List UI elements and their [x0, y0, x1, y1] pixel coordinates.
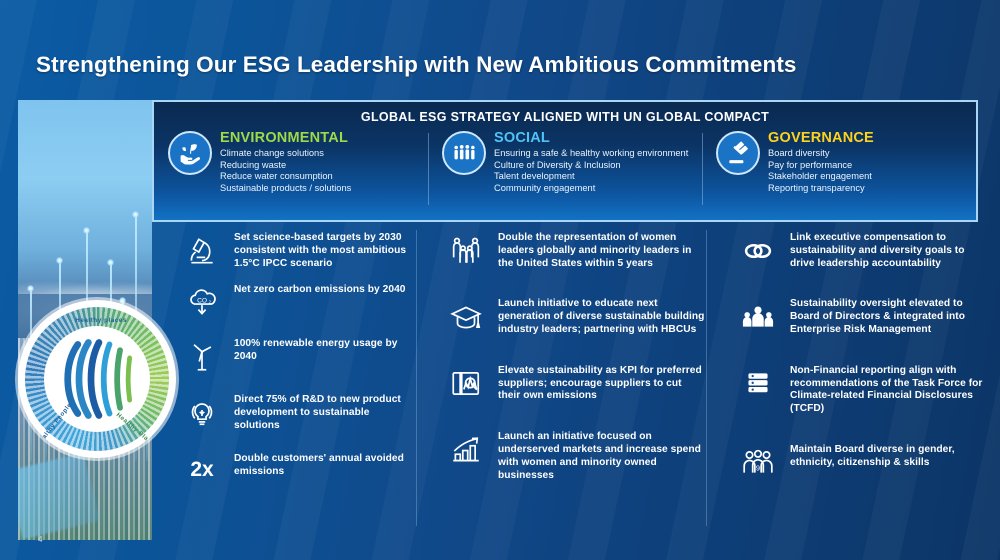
document-review-icon — [444, 365, 488, 401]
commitment-text: Launch an initiative focused on underser… — [498, 431, 706, 482]
pillar-name: SOCIAL — [494, 130, 696, 146]
pillar-governance: GOVERNANCE Board diversity Pay for perfo… — [702, 129, 976, 215]
commitment-text: Launch initiative to educate next genera… — [498, 298, 706, 336]
commitment-item: CO 2 Net zero carbon emissions by 2040 — [180, 284, 416, 320]
lightbulb-icon — [180, 394, 224, 430]
pillar-row: ENVIRONMENTAL Climate change solutions R… — [154, 129, 976, 215]
commitment-text: Direct 75% of R&D to new product develop… — [234, 394, 416, 432]
pillar-point: Stakeholder engagement — [768, 171, 970, 183]
gavel-icon — [716, 131, 760, 175]
commitment-text: Double the representation of women leade… — [498, 232, 706, 270]
commitment-item: Sustainability oversight elevated to Boa… — [736, 298, 990, 336]
esg-slide: Strengthening Our ESG Leadership with Ne… — [0, 0, 1000, 560]
svg-text:9: 9 — [756, 463, 760, 472]
pillar-points: Climate change solutions Reducing waste … — [220, 148, 422, 194]
growth-chart-icon — [444, 431, 488, 467]
pillar-point: Ensuring a safe & healthy working enviro… — [494, 148, 696, 160]
commitment-item: Set science-based targets by 2030 consis… — [180, 232, 416, 270]
co2-cloud-icon: CO 2 — [180, 284, 224, 320]
commitment-text: Sustainability oversight elevated to Boa… — [790, 298, 990, 336]
pillar-environmental: ENVIRONMENTAL Climate change solutions R… — [154, 129, 428, 215]
pillar-points: Ensuring a safe & healthy working enviro… — [494, 148, 696, 194]
pillar-name: ENVIRONMENTAL — [220, 130, 422, 146]
svg-text:CO: CO — [197, 298, 207, 305]
commitment-item: 100% renewable energy usage by 2040 — [180, 338, 416, 374]
commitments-environmental: Set science-based targets by 2030 consis… — [152, 228, 416, 530]
chain-link-icon — [736, 232, 780, 268]
board-members-icon — [736, 298, 780, 334]
pillar-point: Climate change solutions — [220, 148, 422, 160]
family-group-icon — [444, 232, 488, 268]
pillar-point: Reduce water consumption — [220, 171, 422, 183]
commitment-item: Non-Financial reporting align with recom… — [736, 365, 990, 416]
commitments-governance: Link executive compensation to sustainab… — [706, 228, 990, 530]
page-number: 4 — [38, 535, 42, 544]
commitment-text: Double customers' annual avoided emissio… — [234, 453, 416, 479]
pillar-point: Sustainable products / solutions — [220, 183, 422, 195]
commitment-item: 2x Double customers' annual avoided emis… — [180, 453, 416, 480]
commitments-area: Set science-based targets by 2030 consis… — [152, 228, 990, 530]
wind-turbine-icon — [180, 338, 224, 374]
pillar-point: Culture of Diversity & Inclusion — [494, 160, 696, 172]
commitment-text: Net zero carbon emissions by 2040 — [234, 284, 416, 297]
commitment-text: Set science-based targets by 2030 consis… — [234, 232, 416, 270]
commitment-text: Non-Financial reporting align with recom… — [790, 365, 990, 416]
pillar-point: Reporting transparency — [768, 183, 970, 195]
pillar-name: GOVERNANCE — [768, 130, 970, 146]
pillar-points: Board diversity Pay for performance Stak… — [768, 148, 970, 194]
commitment-item: 9 Maintain Board diverse in gender, ethn… — [736, 444, 990, 480]
pillar-point: Community engagement — [494, 183, 696, 195]
stacked-books-icon — [736, 365, 780, 401]
pillar-point: Board diversity — [768, 148, 970, 160]
commitment-item: Launch an initiative focused on underser… — [444, 431, 706, 482]
two-x-label: 2x — [190, 455, 213, 480]
pillar-point: Reducing waste — [220, 160, 422, 172]
commitment-item: Launch initiative to educate next genera… — [444, 298, 706, 336]
commitment-item: Double the representation of women leade… — [444, 232, 706, 270]
commitments-social: Double the representation of women leade… — [416, 228, 706, 530]
commitment-item: Direct 75% of R&D to new product develop… — [180, 394, 416, 432]
badge-word-places: Healthy places — [75, 317, 127, 324]
commitment-item: Link executive compensation to sustainab… — [736, 232, 990, 270]
pillar-body: ENVIRONMENTAL Climate change solutions R… — [220, 129, 422, 215]
commitment-item: Elevate sustainability as KPI for prefer… — [444, 365, 706, 403]
page-title: Strengthening Our ESG Leadership with Ne… — [36, 52, 797, 78]
microscope-icon — [180, 232, 224, 268]
pillar-body: GOVERNANCE Board diversity Pay for perfo… — [768, 129, 970, 215]
diverse-board-icon: 9 — [736, 444, 780, 480]
pillar-body: SOCIAL Ensuring a safe & healthy working… — [494, 129, 696, 215]
commitment-text: Link executive compensation to sustainab… — [790, 232, 990, 270]
commitment-text: Maintain Board diverse in gender, ethnic… — [790, 444, 990, 470]
banner-title: GLOBAL ESG STRATEGY ALIGNED WITH UN GLOB… — [154, 102, 976, 124]
pillar-point: Pay for performance — [768, 160, 970, 172]
pillar-point: Talent development — [494, 171, 696, 183]
graduation-cap-icon — [444, 298, 488, 334]
commitment-text: 100% renewable energy usage by 2040 — [234, 338, 416, 364]
hand-with-plant-icon — [168, 131, 212, 175]
group-of-people-icon — [442, 131, 486, 175]
commitment-text: Elevate sustainability as KPI for prefer… — [498, 365, 706, 403]
two-x-multiplier: 2x — [180, 453, 224, 480]
pillar-social: SOCIAL Ensuring a safe & healthy working… — [428, 129, 702, 215]
strategy-banner: GLOBAL ESG STRATEGY ALIGNED WITH UN GLOB… — [152, 100, 978, 222]
